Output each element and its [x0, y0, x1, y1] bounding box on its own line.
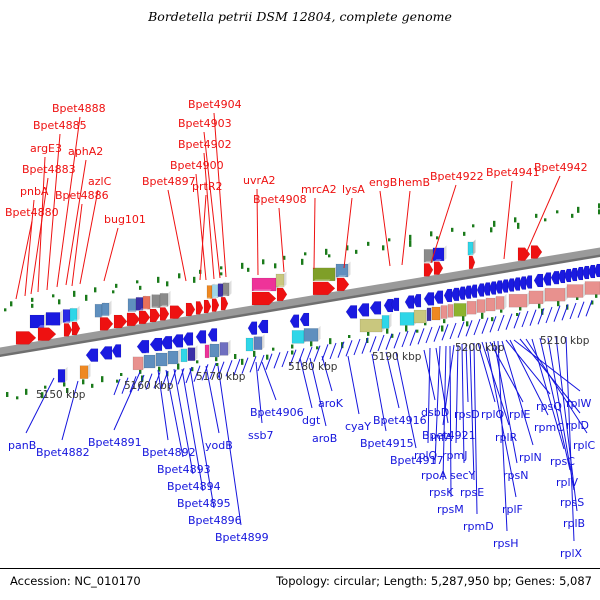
label-leader-line: [502, 341, 533, 445]
gene-label-rpsh[interactable]: rpsH: [493, 538, 519, 549]
label-leader-line: [514, 340, 580, 391]
gene-label-rplv[interactable]: rplV: [556, 477, 578, 488]
gene-label-arge3[interactable]: argE3: [30, 143, 62, 154]
gene-label-bpet4880[interactable]: Bpet4880: [5, 207, 59, 218]
gene-label-bpet4922[interactable]: Bpet4922: [430, 171, 484, 182]
gene-label-bpet4908[interactable]: Bpet4908: [253, 194, 307, 205]
gene-label-bpet4899[interactable]: Bpet4899: [215, 532, 269, 543]
gene-label-bpet4915[interactable]: Bpet4915: [360, 438, 414, 449]
label-leader-line: [396, 352, 416, 448]
label-leader-line: [344, 198, 352, 268]
label-leader-line: [504, 181, 512, 259]
gene-label-bpet4903[interactable]: Bpet4903: [178, 118, 232, 129]
gene-label-rpss[interactable]: rpsS: [560, 497, 584, 508]
gene-label-bpet4895[interactable]: Bpet4895: [177, 498, 231, 509]
gene-label-infa[interactable]: infA: [431, 432, 452, 443]
gene-label-bpet4897[interactable]: Bpet4897: [142, 176, 196, 187]
scale-label: 5190 kbp: [372, 352, 421, 363]
topology-text: Topology: circular; Length: 5,287,950 bp…: [276, 574, 592, 588]
gene-label-pnba[interactable]: pnbA: [20, 186, 48, 197]
gene-label-bpet4896[interactable]: Bpet4896: [188, 515, 242, 526]
gene-label-rpmd[interactable]: rpmD: [463, 521, 494, 532]
gene-label-rpln[interactable]: rplN: [519, 452, 542, 463]
gene-label-prtr2[interactable]: prtR2: [192, 181, 222, 192]
gene-label-secy[interactable]: secY: [450, 470, 475, 481]
gene-label-rplw[interactable]: rplW: [566, 398, 591, 409]
scale-label: 5200 kbp: [455, 343, 504, 354]
gene-label-bpet4916[interactable]: Bpet4916: [373, 415, 427, 426]
gene-label-bpet4906[interactable]: Bpet4906: [250, 407, 304, 418]
gene-label-uvra2[interactable]: uvrA2: [243, 175, 276, 186]
label-leader-line: [279, 208, 284, 272]
footer-divider: [0, 568, 600, 569]
label-leader-line: [402, 191, 410, 265]
gene-label-bpet4882[interactable]: Bpet4882: [36, 447, 90, 458]
accession-text: Accession: NC_010170: [10, 574, 141, 588]
gene-label-bpet4942[interactable]: Bpet4942: [534, 162, 588, 173]
gene-label-rplo[interactable]: rplO: [481, 409, 504, 420]
gene-label-lysa[interactable]: lysA: [342, 184, 365, 195]
gene-label-rpoa[interactable]: rpoA: [421, 470, 447, 481]
gene-label-bpet4904[interactable]: Bpet4904: [188, 99, 242, 110]
gene-label-bpet4891[interactable]: Bpet4891: [88, 437, 142, 448]
gene-label-rpsm[interactable]: rpsM: [437, 504, 464, 515]
gene-label-rplq[interactable]: rplQ: [414, 450, 437, 461]
gene-label-yodb[interactable]: yodB: [205, 440, 233, 451]
gene-label-bpet4893[interactable]: Bpet4893: [157, 464, 211, 475]
gene-label-rpmc[interactable]: rpmC: [534, 422, 564, 433]
label-leader-line: [462, 344, 464, 463]
gene-label-dgt[interactable]: dgt: [302, 415, 320, 426]
gene-label-bpet4902[interactable]: Bpet4902: [178, 139, 232, 150]
gene-label-rpsc[interactable]: rpsC: [550, 456, 575, 467]
scale-label: 5180 kbp: [288, 362, 337, 373]
gene-label-cyay[interactable]: cyaY: [345, 421, 371, 432]
gene-label-rpsd[interactable]: rpsD: [454, 409, 480, 420]
label-leader-line: [26, 378, 54, 433]
gene-label-rplx[interactable]: rplX: [560, 548, 582, 559]
label-leader-line: [348, 356, 359, 414]
gene-label-apha2[interactable]: aphA2: [68, 146, 103, 157]
label-leader-line: [524, 176, 560, 258]
gene-label-bpet4886[interactable]: Bpet4886: [55, 190, 109, 201]
gene-label-rplb[interactable]: rplB: [563, 518, 585, 529]
gene-label-azlc[interactable]: azlC: [88, 176, 111, 187]
gene-label-rplr[interactable]: rplR: [495, 432, 517, 443]
gene-label-rplf[interactable]: rplF: [502, 504, 523, 515]
gene-label-bug101[interactable]: bug101: [104, 214, 146, 225]
gene-label-dsbd[interactable]: dsbD: [421, 407, 449, 418]
gene-label-hemb[interactable]: hemB: [398, 177, 430, 188]
gene-label-rpse[interactable]: rpsE: [460, 487, 484, 498]
label-leader-line: [314, 198, 315, 269]
gene-label-panb[interactable]: panB: [8, 440, 36, 451]
label-leader-line: [380, 191, 390, 266]
scale-label: 5210 kbp: [540, 336, 589, 347]
gene-label-bpet4941[interactable]: Bpet4941: [486, 167, 540, 178]
gene-label-arob[interactable]: aroB: [312, 433, 337, 444]
gene-label-ssb7[interactable]: ssb7: [248, 430, 273, 441]
label-leader-line: [80, 190, 98, 284]
label-leader-line: [262, 362, 276, 400]
scale-label: 5170 kbp: [196, 372, 245, 383]
label-leader-line: [16, 221, 32, 299]
label-leader-line: [168, 190, 186, 281]
genome-viewer: Bordetella petrii DSM 12804, complete ge…: [0, 0, 600, 600]
gene-label-rpld[interactable]: rplD: [566, 420, 589, 431]
scale-label: 5160 kbp: [124, 381, 173, 392]
gene-label-rple[interactable]: rplE: [509, 409, 531, 420]
label-leader-line: [435, 346, 440, 463]
gene-label-bpet4883[interactable]: Bpet4883: [22, 164, 76, 175]
gene-label-mrca2[interactable]: mrcA2: [301, 184, 337, 195]
scale-label: 5150 kbp: [36, 390, 85, 401]
gene-label-bpet4900[interactable]: Bpet4900: [170, 160, 224, 171]
gene-label-arok[interactable]: aroK: [318, 398, 343, 409]
label-leader-line: [431, 185, 456, 263]
gene-label-bpet4885[interactable]: Bpet4885: [33, 120, 87, 131]
gene-label-rpmj[interactable]: rpmJ: [442, 450, 467, 461]
gene-label-rpsk[interactable]: rpsK: [429, 487, 453, 498]
gene-label-bpet4892[interactable]: Bpet4892: [142, 447, 196, 458]
gene-label-bpet4894[interactable]: Bpet4894: [167, 481, 221, 492]
gene-label-rpsn[interactable]: rpsN: [503, 470, 528, 481]
gene-label-bpet4888[interactable]: Bpet4888: [52, 103, 106, 114]
label-leader-line: [104, 228, 118, 281]
gene-label-rpsq[interactable]: rpsQ: [536, 401, 562, 412]
gene-label-engb[interactable]: engB: [369, 177, 397, 188]
gene-label-rplc[interactable]: rplC: [573, 440, 595, 451]
